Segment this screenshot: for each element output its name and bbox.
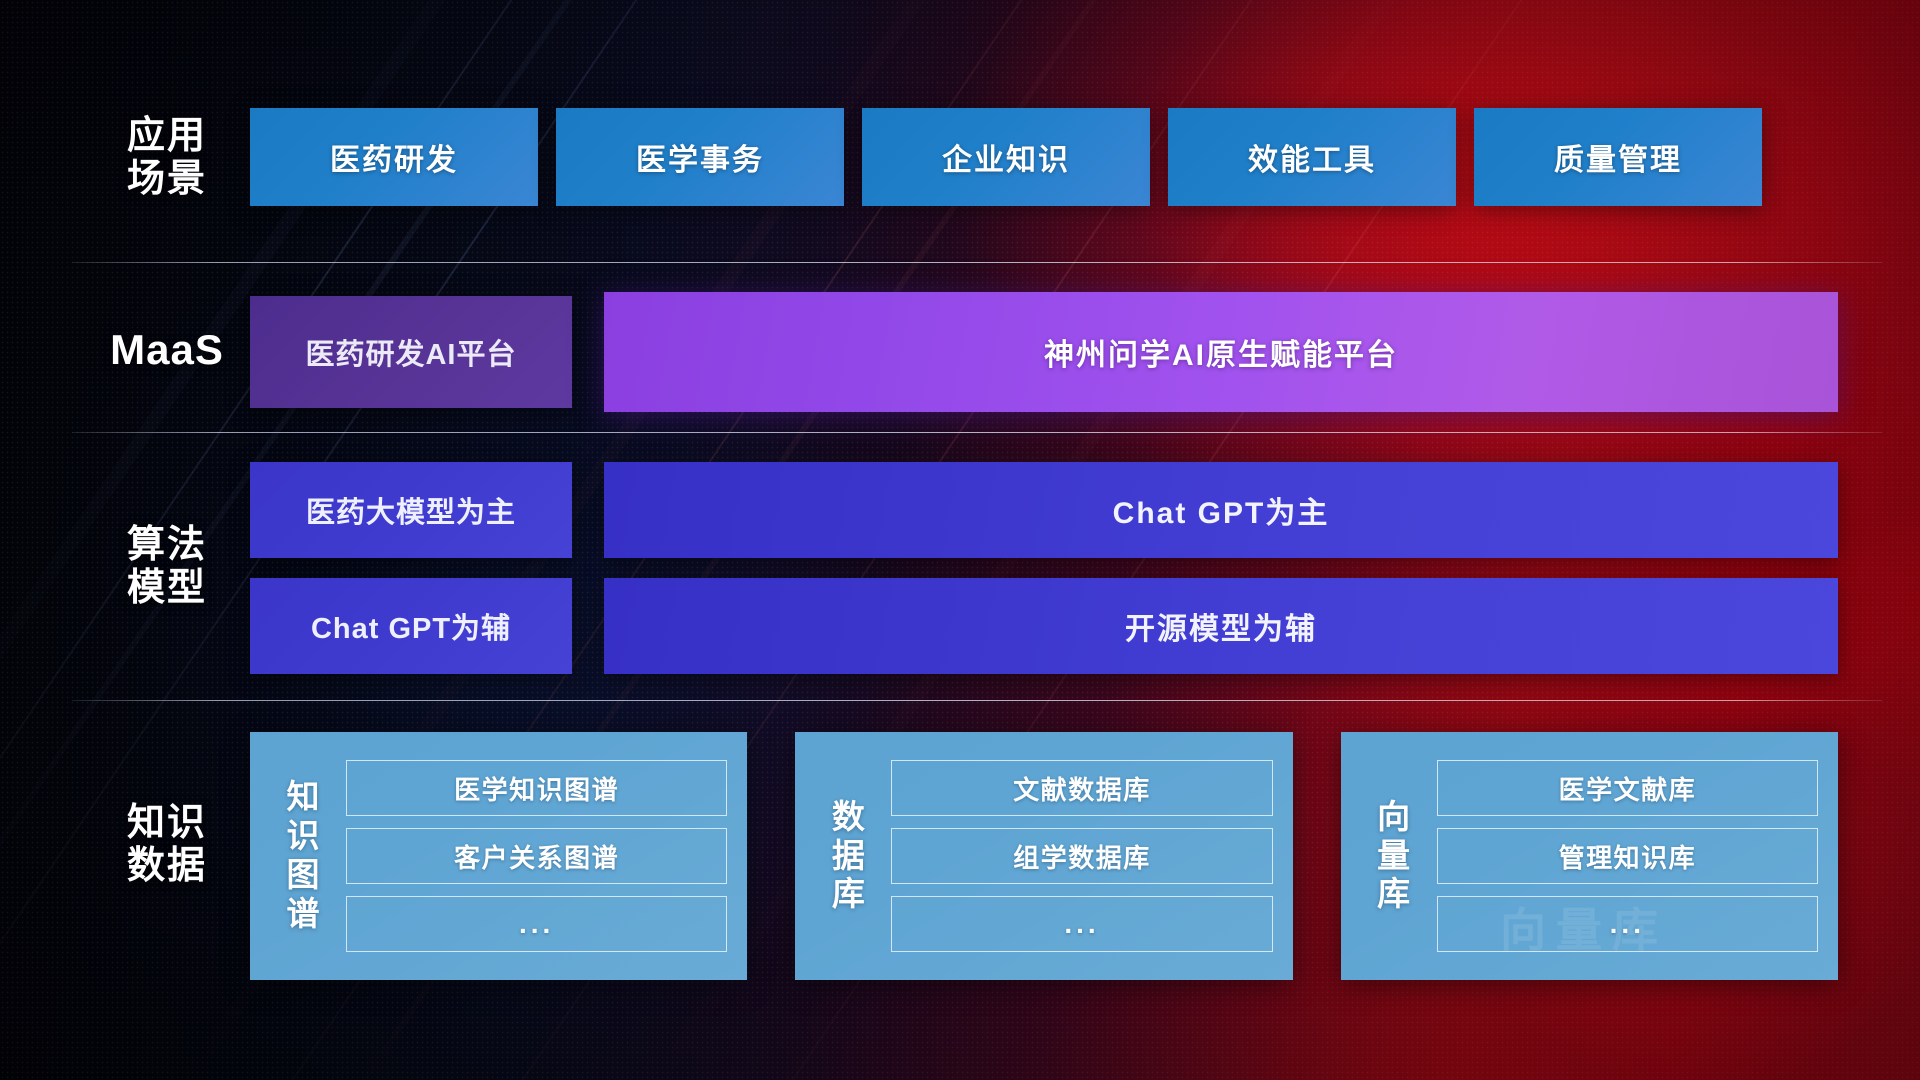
app-tile-medicine-rd[interactable]: 医药研发 (250, 108, 538, 206)
row-label-line: 数据 (127, 845, 207, 888)
knowledge-item-management-knowledge-store[interactable]: 管理知识库 (1437, 828, 1818, 884)
maas-right-label: 神州问学AI原生赋能平台 (1044, 330, 1398, 374)
maas-platform-medicine-rd[interactable]: 医药研发AI平台 (250, 296, 572, 408)
panel-label-char: 数 (832, 798, 865, 837)
knowledge-item-label: ... (519, 908, 554, 940)
knowledge-panel-items: 医学知识图谱 客户关系图谱 ... (346, 746, 731, 966)
divider-after-algorithm-models (72, 700, 1882, 701)
row-label-line: 应用 (127, 115, 207, 158)
algo-bar-label: 开源模型为辅 (1125, 604, 1317, 648)
row-label-maas: MaaS (92, 300, 242, 400)
knowledge-item-label: ... (1610, 908, 1645, 940)
knowledge-panel-items: 文献数据库 组学数据库 ... (891, 746, 1276, 966)
panel-label-char: 库 (1377, 875, 1410, 914)
knowledge-panel-label-knowledge-graph: 知 识 图 谱 (260, 746, 346, 966)
divider-after-application-scenarios (72, 262, 1882, 263)
knowledge-item-literature-database[interactable]: 文献数据库 (891, 760, 1272, 816)
knowledge-panel-database[interactable]: 数 据 库 文献数据库 组学数据库 ... (795, 732, 1292, 980)
app-tile-enterprise-knowledge[interactable]: 企业知识 (862, 108, 1150, 206)
app-tile-label: 医学事务 (636, 135, 764, 179)
app-tile-label: 质量管理 (1554, 135, 1682, 179)
knowledge-item-medical-literature-store[interactable]: 医学文献库 (1437, 760, 1818, 816)
panel-label-char: 向 (1377, 798, 1410, 837)
application-scenarios-row: 医药研发 医学事务 企业知识 效能工具 质量管理 (250, 108, 1838, 206)
row-label-line: 模型 (127, 567, 207, 610)
algo-bar-label: Chat GPT为辅 (311, 605, 511, 647)
knowledge-panel-label-vector-store: 向 量 库 (1351, 746, 1437, 966)
panel-label-char: 量 (1377, 837, 1410, 876)
app-tile-label: 效能工具 (1248, 135, 1376, 179)
row-label-knowledge-data: 知识 数据 (92, 790, 242, 900)
knowledge-item-more[interactable]: ... (346, 896, 727, 952)
app-tile-quality-management[interactable]: 质量管理 (1474, 108, 1762, 206)
panel-label-char: 据 (832, 837, 865, 876)
algo-bar-chatgpt-secondary[interactable]: Chat GPT为辅 (250, 578, 572, 674)
knowledge-panel-vector-store[interactable]: 向 量 库 医学文献库 管理知识库 ... (1341, 732, 1838, 980)
row-label-line: 算法 (127, 524, 207, 567)
algorithm-models-row-primary: 医药大模型为主 Chat GPT为主 (250, 462, 1838, 558)
knowledge-item-medical-knowledge-graph[interactable]: 医学知识图谱 (346, 760, 727, 816)
row-label-line: 知识 (127, 802, 207, 845)
app-tile-label: 企业知识 (942, 135, 1070, 179)
divider-after-maas (72, 432, 1882, 433)
row-label-line: MaaS (110, 326, 224, 373)
knowledge-panel-items: 医学文献库 管理知识库 ... (1437, 746, 1822, 966)
knowledge-item-customer-relation-graph[interactable]: 客户关系图谱 (346, 828, 727, 884)
knowledge-panel-knowledge-graph[interactable]: 知 识 图 谱 医学知识图谱 客户关系图谱 ... (250, 732, 747, 980)
knowledge-item-label: 客户关系图谱 (454, 838, 619, 875)
knowledge-item-label: 文献数据库 (1013, 770, 1151, 807)
panel-label-char: 图 (287, 856, 320, 895)
maas-row: 医药研发AI平台 神州问学AI原生赋能平台 (250, 292, 1838, 412)
app-tile-medical-affairs[interactable]: 医学事务 (556, 108, 844, 206)
panel-label-char: 谱 (287, 895, 320, 934)
app-tile-label: 医药研发 (330, 135, 458, 179)
row-label-algorithm-models: 算法 模型 (92, 512, 242, 622)
knowledge-item-more[interactable]: ... (1437, 896, 1818, 952)
panel-label-char: 库 (832, 875, 865, 914)
algo-bar-label: 医药大模型为主 (306, 489, 516, 531)
knowledge-item-omics-database[interactable]: 组学数据库 (891, 828, 1272, 884)
maas-platform-shenzhou-wenxue[interactable]: 神州问学AI原生赋能平台 (604, 292, 1838, 412)
knowledge-item-label: 医学文献库 (1559, 770, 1697, 807)
knowledge-item-label: ... (1064, 908, 1099, 940)
algo-bar-opensource-secondary[interactable]: 开源模型为辅 (604, 578, 1838, 674)
knowledge-item-label: 管理知识库 (1559, 838, 1697, 875)
knowledge-data-row: 知 识 图 谱 医学知识图谱 客户关系图谱 ... (250, 732, 1838, 980)
row-label-application-scenarios: 应用 场景 (92, 108, 242, 208)
knowledge-item-label: 组学数据库 (1013, 838, 1151, 875)
knowledge-panel-label-database: 数 据 库 (805, 746, 891, 966)
panel-label-char: 识 (287, 817, 320, 856)
algo-bar-medicine-large-model-primary[interactable]: 医药大模型为主 (250, 462, 572, 558)
algorithm-models-row-secondary: Chat GPT为辅 开源模型为辅 (250, 578, 1838, 674)
app-tile-efficiency-tools[interactable]: 效能工具 (1168, 108, 1456, 206)
algo-bar-label: Chat GPT为主 (1113, 488, 1330, 532)
knowledge-item-more[interactable]: ... (891, 896, 1272, 952)
knowledge-item-label: 医学知识图谱 (454, 770, 619, 807)
maas-left-label: 医药研发AI平台 (305, 331, 516, 373)
algo-bar-chatgpt-primary[interactable]: Chat GPT为主 (604, 462, 1838, 558)
diagram-stage: 应用 场景 医药研发 医学事务 企业知识 效能工具 质量管理 MaaS (0, 0, 1920, 1080)
panel-label-char: 知 (287, 778, 320, 817)
row-label-line: 场景 (127, 158, 207, 201)
